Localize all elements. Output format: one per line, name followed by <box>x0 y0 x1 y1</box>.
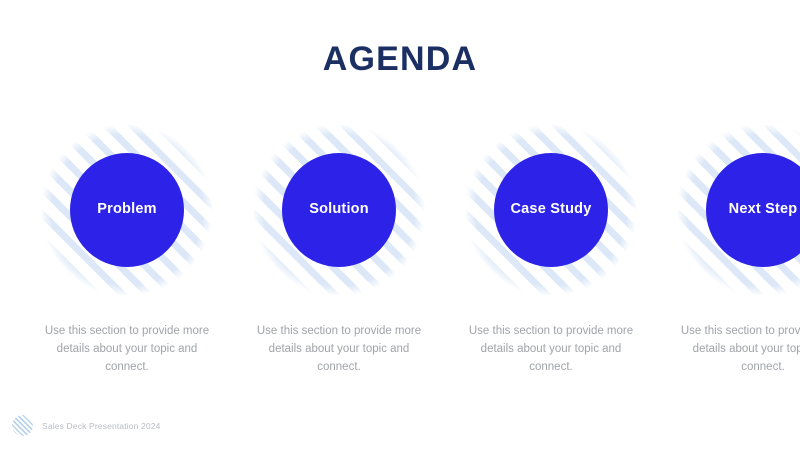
circle-wrap-next-step: Next Step <box>678 125 800 295</box>
footer-label: Sales Deck Presentation 2024 <box>42 421 161 431</box>
agenda-circle-label: Solution <box>309 202 369 218</box>
agenda-circle-label: Next Step <box>729 202 798 218</box>
agenda-item-description: Use this section to provide more details… <box>679 323 800 376</box>
agenda-item-description: Use this section to provide more details… <box>43 323 211 376</box>
page-title: AGENDA <box>0 42 800 76</box>
agenda-circle-next-step[interactable]: Next Step <box>706 153 800 267</box>
agenda-item-case-study[interactable]: Case Study Use this section to provide m… <box>466 125 636 376</box>
slide-footer: Sales Deck Presentation 2024 <box>12 415 161 436</box>
striped-circle-icon <box>12 415 33 436</box>
agenda-item-solution[interactable]: Solution Use this section to provide mor… <box>254 125 424 376</box>
agenda-item-problem[interactable]: Problem Use this section to provide more… <box>42 125 212 376</box>
agenda-items-row: Problem Use this section to provide more… <box>0 125 800 376</box>
agenda-item-description: Use this section to provide more details… <box>255 323 423 376</box>
agenda-circle-problem[interactable]: Problem <box>70 153 184 267</box>
circle-wrap-case-study: Case Study <box>466 125 636 295</box>
agenda-circle-solution[interactable]: Solution <box>282 153 396 267</box>
agenda-slide: AGENDA Problem Use this section to provi… <box>0 0 800 450</box>
circle-wrap-solution: Solution <box>254 125 424 295</box>
agenda-item-description: Use this section to provide more details… <box>467 323 635 376</box>
agenda-item-next-step[interactable]: Next Step Use this section to provide mo… <box>678 125 800 376</box>
agenda-circle-label: Problem <box>97 202 156 218</box>
agenda-circle-case-study[interactable]: Case Study <box>494 153 608 267</box>
circle-wrap-problem: Problem <box>42 125 212 295</box>
agenda-circle-label: Case Study <box>511 202 592 218</box>
